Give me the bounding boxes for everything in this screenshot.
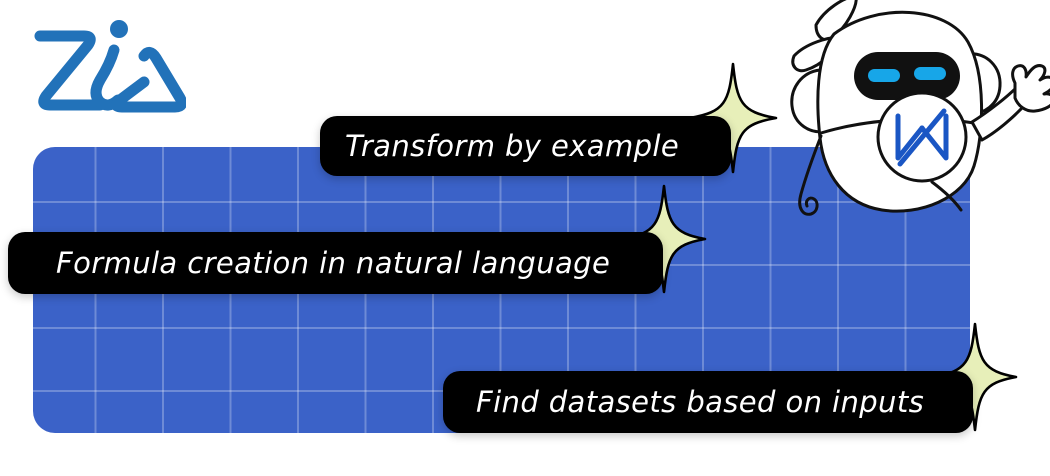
zia-logo-dot	[110, 20, 128, 38]
zia-feature-banner: Transform by example Formula creation in…	[0, 0, 1050, 476]
hand-icon	[1013, 66, 1050, 112]
eye-right-icon	[914, 67, 946, 80]
eye-left-icon	[868, 69, 900, 82]
feature-label-transform-text: Transform by example	[345, 129, 679, 163]
feature-label-formula-text: Formula creation in natural language	[56, 246, 610, 280]
feature-label-formula[interactable]: Formula creation in natural language	[8, 232, 663, 294]
arm-left-icon	[800, 136, 821, 214]
feature-label-datasets[interactable]: Find datasets based on inputs	[443, 371, 973, 433]
zia-logo	[26, 12, 186, 120]
feature-label-transform[interactable]: Transform by example	[320, 116, 731, 176]
zia-robot-mascot	[772, 0, 1050, 226]
zia-wordmark-icon	[26, 12, 186, 120]
feature-label-datasets-text: Find datasets based on inputs	[476, 385, 924, 419]
